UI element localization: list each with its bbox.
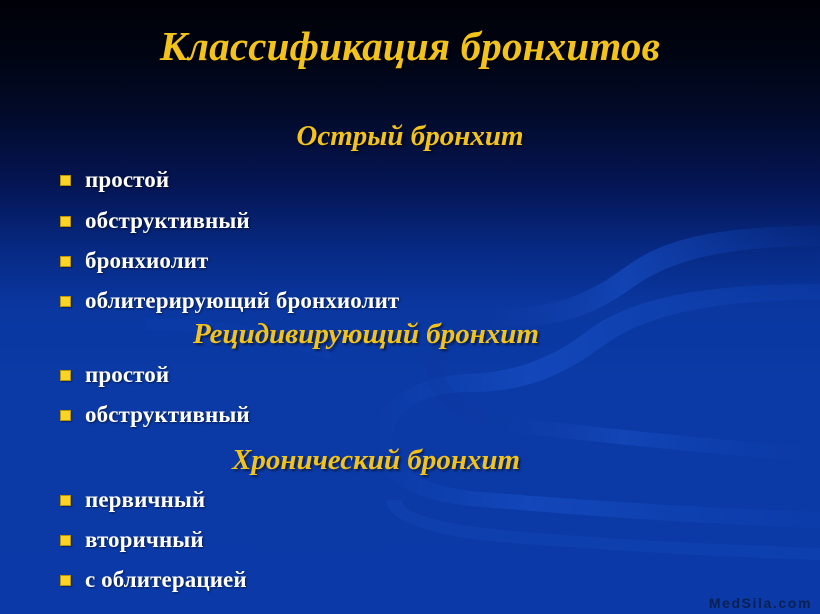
list-item: простой xyxy=(60,362,169,388)
list-item: обструктивный xyxy=(60,208,250,234)
list-item: вторичный xyxy=(60,527,204,553)
section-heading-chronic: Хронический бронхит xyxy=(232,444,520,477)
section-heading-acute: Острый бронхит xyxy=(0,120,820,153)
bullet-square-icon xyxy=(60,370,71,381)
bullet-square-icon xyxy=(60,535,71,546)
list-item: облитерирующий бронхиолит xyxy=(60,288,399,314)
slide-title: Классификация бронхитов xyxy=(0,22,820,70)
slide-canvas: Классификация бронхитов Острый бронхит п… xyxy=(0,0,820,614)
list-item: первичный xyxy=(60,487,205,513)
list-item-label: обструктивный xyxy=(85,402,250,428)
bullet-square-icon xyxy=(60,495,71,506)
list-item-label: простой xyxy=(85,167,169,193)
list-item-label: обструктивный xyxy=(85,208,250,234)
site-watermark: MedSila.com xyxy=(709,595,812,611)
list-item-label: первичный xyxy=(85,487,205,513)
list-item-label: вторичный xyxy=(85,527,204,553)
list-item-label: бронхиолит xyxy=(85,248,208,274)
bullet-square-icon xyxy=(60,216,71,227)
list-item: простой xyxy=(60,167,169,193)
bullet-square-icon xyxy=(60,410,71,421)
list-item: с облитерацией xyxy=(60,567,247,593)
bullet-square-icon xyxy=(60,256,71,267)
section-heading-recurrent: Рецидивирующий бронхит xyxy=(193,318,539,351)
bullet-square-icon xyxy=(60,575,71,586)
bullet-square-icon xyxy=(60,175,71,186)
bullet-square-icon xyxy=(60,296,71,307)
list-item: бронхиолит xyxy=(60,248,208,274)
list-item-label: с облитерацией xyxy=(85,567,247,593)
list-item-label: простой xyxy=(85,362,169,388)
list-item-label: облитерирующий бронхиолит xyxy=(85,288,399,314)
list-item: обструктивный xyxy=(60,402,250,428)
